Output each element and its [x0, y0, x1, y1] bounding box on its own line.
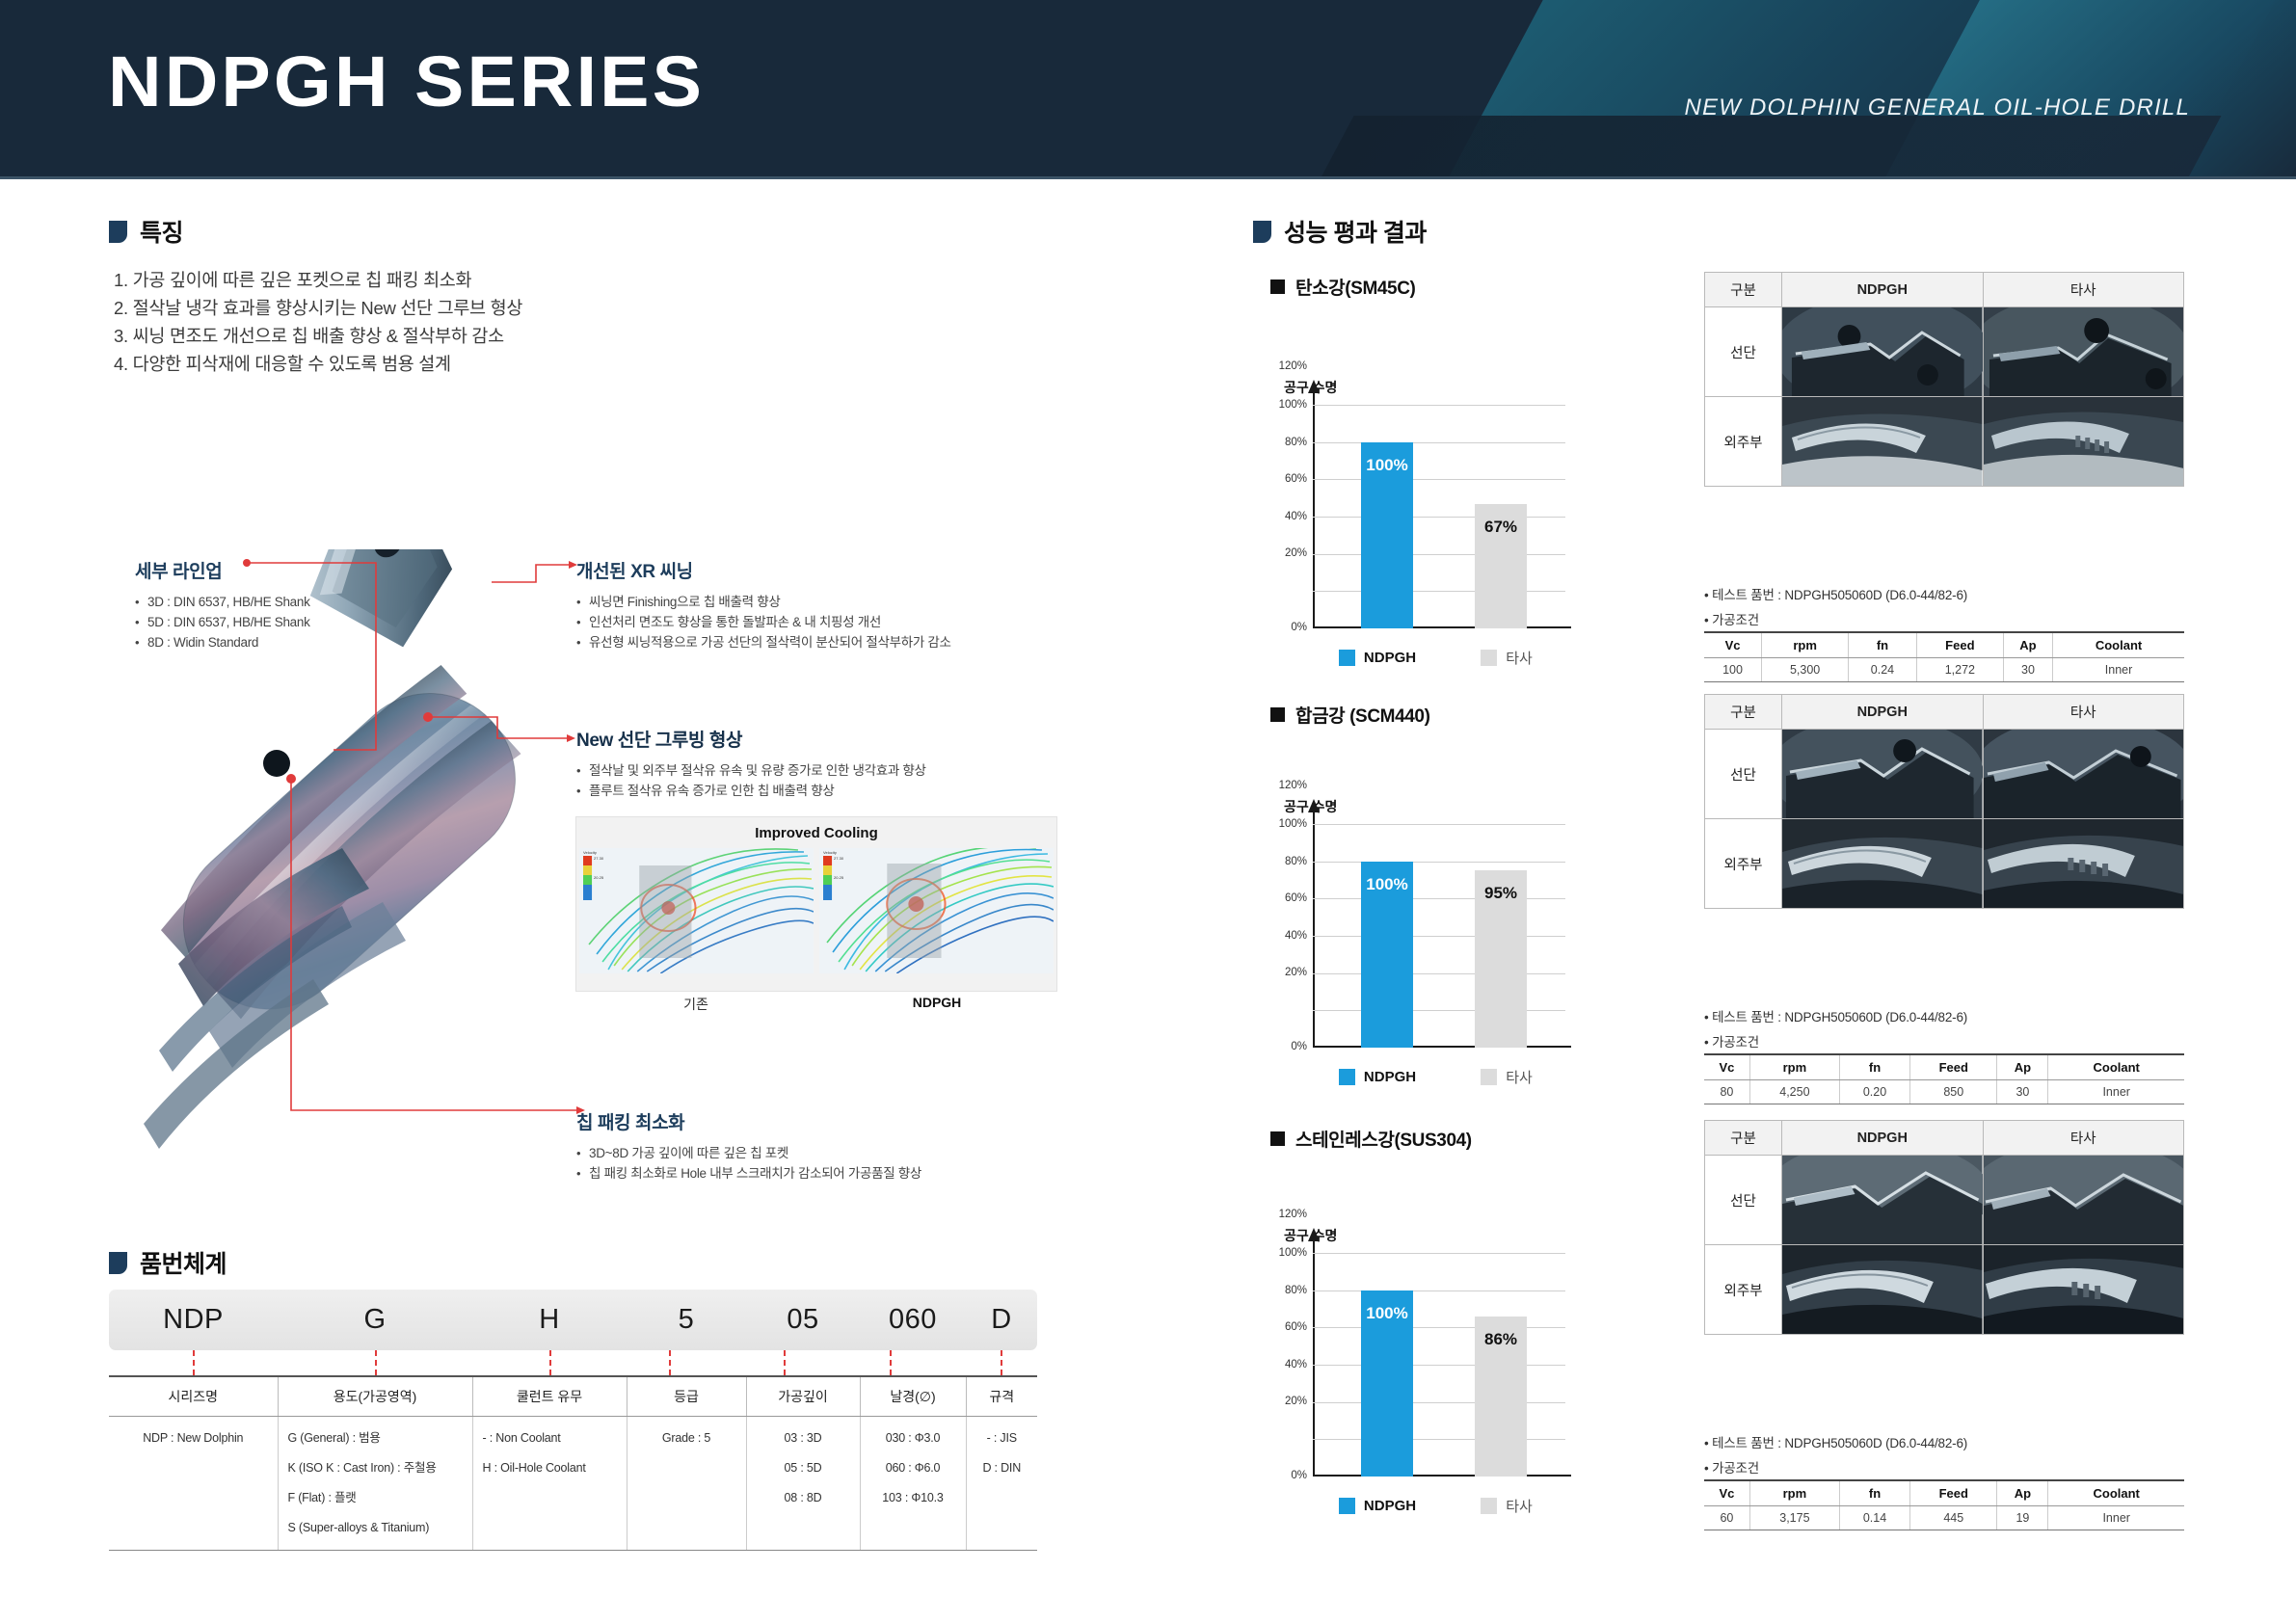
y-tick-label: 40% — [1257, 930, 1307, 942]
legend-label: NDPGH — [1364, 1069, 1416, 1085]
pn-tick — [669, 1350, 671, 1375]
table-cell-depth: 03 : 3D 05 : 5D 08 : 8D — [746, 1417, 860, 1551]
list-item: 칩 패킹 최소화로 Hole 내부 스크래치가 감소되어 가공품질 향상 — [576, 1163, 1058, 1184]
cell-line: F (Flat) : 플랫 — [288, 1483, 463, 1513]
callout-new-grooving: New 선단 그루빙 형상 절삭날 및 외주부 절삭유 유속 및 유량 증가로 … — [576, 726, 1029, 801]
column-header: rpm — [1762, 632, 1849, 658]
x-axis — [1313, 1046, 1571, 1048]
bar-ndpgh: 100% — [1361, 862, 1413, 1048]
grid-line — [1313, 1010, 1565, 1011]
cell-line: D : DIN — [976, 1453, 1028, 1483]
pn-tick — [784, 1350, 786, 1375]
page-title: NDPGH SERIES — [108, 40, 705, 122]
chart-legend: NDPGH 타사 — [1313, 648, 1571, 668]
pn-tick — [890, 1350, 892, 1375]
svg-text:Velocity: Velocity — [823, 850, 837, 855]
row-label: 외주부 — [1705, 819, 1782, 909]
y-tick-label: 60% — [1257, 1321, 1307, 1333]
pn-tick — [1001, 1350, 1002, 1375]
y-tick-label: 40% — [1257, 1359, 1307, 1370]
table-cell: 0.14 — [1839, 1506, 1909, 1530]
table-row: 외주부 — [1705, 397, 2184, 487]
x-axis — [1313, 626, 1571, 628]
pn-tick — [193, 1350, 195, 1375]
callout-title: 칩 패킹 최소화 — [576, 1108, 1058, 1134]
column-header: 날경(∅) — [860, 1376, 966, 1417]
y-tick-label: 80% — [1257, 437, 1307, 448]
flag-icon — [109, 1252, 127, 1274]
cooling-caption-ndpgh: NDPGH — [816, 995, 1057, 1014]
y-tick-label: 100% — [1257, 818, 1307, 830]
cell-line: S (Super-alloys & Titanium) — [288, 1513, 463, 1543]
condition-note-sm45c: • 가공조건 — [1704, 609, 1759, 628]
margin-photo — [1782, 1245, 1983, 1334]
column-header: Ap — [2003, 632, 2052, 658]
callout-title: 개선된 XR 씨닝 — [576, 557, 1029, 583]
grid-line — [1313, 936, 1565, 937]
features-heading-label: 특징 — [140, 214, 183, 249]
grid-line — [1313, 1402, 1565, 1403]
y-axis-arrow-icon — [1308, 380, 1320, 393]
table-cell: 80 — [1704, 1080, 1749, 1104]
column-header: 타사 — [1983, 273, 2184, 307]
photo-cell-ndpgh-margin — [1782, 1245, 1984, 1335]
test-part-note-scm440: • 테스트 품번 : NDPGH505060D (D6.0-44/82-6) — [1704, 1006, 1967, 1025]
header-accent-shape-c — [1271, 116, 2221, 178]
legend-swatch-icon — [1339, 650, 1355, 666]
table-row: 60 3,175 0.14 445 19 Inner — [1704, 1506, 2184, 1530]
margin-photo — [1782, 397, 1983, 486]
cfd-image-ndpgh: Velocity 27.30 20.25 — [819, 848, 1054, 973]
table-cell: Inner — [2048, 1080, 2184, 1104]
part-number-heading-label: 품번체계 — [140, 1245, 227, 1280]
material-heading-scm440: 합금강 (SCM440) — [1270, 702, 1430, 728]
y-tick-label: 0% — [1257, 1041, 1307, 1052]
table-header-row: 구분 NDPGH 타사 — [1705, 695, 2184, 730]
cooling-caption-conventional: 기존 — [575, 995, 816, 1014]
legend-label: 타사 — [1506, 648, 1533, 668]
y-tick-label: 80% — [1257, 856, 1307, 867]
column-header: 규격 — [966, 1376, 1037, 1417]
table-row: 100 5,300 0.24 1,272 30 Inner — [1704, 658, 2184, 682]
bar-value-label: 100% — [1361, 1304, 1413, 1323]
photo-cell-ndpgh-margin — [1782, 397, 1984, 487]
cooling-captions: 기존 NDPGH — [575, 995, 1057, 1014]
bar-ndpgh: 100% — [1361, 442, 1413, 628]
column-header: 구분 — [1705, 1121, 1782, 1156]
bar-competitor: 95% — [1475, 870, 1527, 1048]
bar-competitor: 67% — [1475, 504, 1527, 629]
bar-value-label: 100% — [1361, 456, 1413, 475]
column-header: fn — [1849, 632, 1917, 658]
list-item: 3. 씨닝 면조도 개선으로 칩 배출 향상 & 절삭부하 감소 — [114, 322, 522, 350]
y-tick-label: 100% — [1257, 1247, 1307, 1259]
photo-cell-competitor-margin — [1983, 819, 2184, 909]
cell-line: 030 : Φ3.0 — [870, 1423, 956, 1453]
column-header: 타사 — [1983, 695, 2184, 730]
page-header: NDPGH SERIES NEW DOLPHIN GENERAL OIL-HOL… — [0, 0, 2296, 178]
header-divider — [0, 176, 2296, 179]
grid-line — [1313, 479, 1565, 480]
pn-segment: 5 — [627, 1304, 746, 1336]
condition-note-scm440: • 가공조건 — [1704, 1031, 1759, 1051]
table-cell: 30 — [1997, 1080, 2048, 1104]
photo-cell-competitor-tip — [1983, 1156, 2184, 1245]
callout-bullets: 절삭날 및 외주부 절삭유 유속 및 유량 증가로 인한 냉각효과 향상 플루트… — [576, 760, 1029, 801]
bar-value-label: 95% — [1475, 884, 1527, 903]
list-item: 1. 가공 깊이에 따른 깊은 포켓으로 칩 패킹 최소화 — [114, 266, 522, 294]
material-label: 합금강 (SCM440) — [1295, 702, 1430, 728]
photo-cell-ndpgh-tip — [1782, 307, 1984, 397]
chart-legend: NDPGH 타사 — [1313, 1496, 1571, 1516]
callout-bullets: 3D~8D 가공 깊이에 따른 깊은 칩 포켓 칩 패킹 최소화로 Hole 내… — [576, 1143, 1058, 1184]
column-header: NDPGH — [1782, 273, 1984, 307]
y-axis — [1313, 391, 1315, 628]
callout-xr-thinning: 개선된 XR 씨닝 씨닝면 Finishing으로 칩 배출력 향상 인선처리 … — [576, 557, 1029, 652]
pn-segment: 05 — [746, 1304, 860, 1336]
y-axis-arrow-icon — [1308, 1228, 1320, 1241]
svg-text:20.25: 20.25 — [594, 875, 604, 880]
condition-table-scm440: Vc rpm fn Feed Ap Coolant 80 4,250 0.20 … — [1704, 1053, 2184, 1104]
chart-plot-area: 120% 100% 80% 60% 40% 20% 0% 100% 86% — [1313, 1253, 1565, 1477]
column-header: Vc — [1704, 1480, 1749, 1506]
table-cell: 30 — [2003, 658, 2052, 682]
bar-value-label: 67% — [1475, 518, 1527, 537]
cell-line: K (ISO K : Cast Iron) : 주철용 — [288, 1453, 463, 1483]
test-part-note-sus304: • 테스트 품번 : NDPGH505060D (D6.0-44/82-6) — [1704, 1432, 1967, 1451]
grid-line — [1313, 442, 1565, 443]
bar-competitor: 86% — [1475, 1317, 1527, 1477]
grid-line — [1313, 862, 1565, 863]
column-header: NDPGH — [1782, 1121, 1984, 1156]
chart-tool-life-scm440: 공구 수명 120% 100% 80% 60% 40% 20% 0% 100% … — [1253, 824, 1581, 1113]
photo-cell-ndpgh-margin — [1782, 819, 1984, 909]
table-cell: 445 — [1910, 1506, 1997, 1530]
row-label: 선단 — [1705, 307, 1782, 397]
callout-title: New 선단 그루빙 형상 — [576, 726, 1029, 752]
y-tick-label: 40% — [1257, 511, 1307, 522]
row-label: 외주부 — [1705, 1245, 1782, 1335]
y-tick-label: 60% — [1257, 473, 1307, 485]
chart-tool-life-sm45c: 공구 수명 120% 100% 80% 60% 40% 20% 0% 100% … — [1253, 405, 1581, 694]
table-cell: 60 — [1704, 1506, 1749, 1530]
cell-line: NDP : New Dolphin — [119, 1423, 268, 1453]
column-header: 구분 — [1705, 273, 1782, 307]
flag-icon — [1253, 221, 1271, 243]
list-item: 씨닝면 Finishing으로 칩 배출력 향상 — [576, 592, 1029, 612]
square-bullet-icon — [1270, 279, 1285, 294]
margin-photo — [1782, 819, 1983, 908]
table-cell: Inner — [2053, 658, 2184, 682]
table-row: 80 4,250 0.20 850 30 Inner — [1704, 1080, 2184, 1104]
column-header: Coolant — [2048, 1480, 2184, 1506]
cell-line: H : Oil-Hole Coolant — [483, 1453, 617, 1483]
cell-line: - : JIS — [976, 1423, 1028, 1453]
grid-line — [1313, 405, 1565, 406]
svg-text:20.25: 20.25 — [834, 875, 844, 880]
table-header-row: 시리즈명 용도(가공영역) 쿨런트 유무 등급 가공깊이 날경(∅) 규격 — [109, 1376, 1037, 1417]
cell-line: 08 : 8D — [757, 1483, 850, 1513]
list-item: 절삭날 및 외주부 절삭유 유속 및 유량 증가로 인한 냉각효과 향상 — [576, 760, 1029, 781]
callout-title: 세부 라인업 — [135, 557, 424, 583]
condition-table-sm45c: Vc rpm fn Feed Ap Coolant 100 5,300 0.24… — [1704, 631, 2184, 682]
photo-cell-competitor-margin — [1983, 1245, 2184, 1335]
column-header: 시리즈명 — [109, 1376, 278, 1417]
grid-line — [1313, 898, 1565, 899]
photo-cell-competitor-tip — [1983, 730, 2184, 819]
list-item: 4. 다양한 피삭재에 대응할 수 있도록 범용 설계 — [114, 350, 522, 378]
y-axis-arrow-icon — [1308, 799, 1320, 812]
page-subtitle: NEW DOLPHIN GENERAL OIL-HOLE DRILL — [1685, 94, 2190, 121]
table-row: 외주부 — [1705, 1245, 2184, 1335]
margin-photo — [1984, 819, 2184, 908]
legend-swatch-icon — [1481, 1498, 1497, 1514]
margin-photo — [1984, 397, 2184, 486]
bar-value-label: 86% — [1475, 1330, 1527, 1349]
square-bullet-icon — [1270, 707, 1285, 722]
table-cell: 0.24 — [1849, 658, 1917, 682]
x-axis — [1313, 1475, 1571, 1477]
table-cell-usage: G (General) : 범용 K (ISO K : Cast Iron) :… — [278, 1417, 472, 1551]
cell-line: 05 : 5D — [757, 1453, 850, 1483]
material-heading-sm45c: 탄소강(SM45C) — [1270, 274, 1415, 300]
callout-bullets: 씨닝면 Finishing으로 칩 배출력 향상 인선처리 면조도 향상을 통한… — [576, 592, 1029, 652]
table-cell-grade: Grade : 5 — [627, 1417, 746, 1551]
column-header: Ap — [1997, 1054, 2048, 1080]
column-header: Vc — [1704, 1054, 1749, 1080]
table-row: 선단 — [1705, 1156, 2184, 1245]
table-cell-coolant: - : Non Coolant H : Oil-Hole Coolant — [472, 1417, 627, 1551]
grid-line — [1313, 517, 1565, 518]
table-cell: 3,175 — [1749, 1506, 1839, 1530]
coolant-hole — [263, 750, 290, 777]
list-item: 2. 절삭날 냉각 효과를 향상시키는 New 선단 그루브 형상 — [114, 294, 522, 322]
comparison-table-scm440: 구분 NDPGH 타사 선단 — [1704, 694, 2184, 909]
table-header-row: Vc rpm fn Feed Ap Coolant — [1704, 1054, 2184, 1080]
list-item: 인선처리 면조도 향상을 통한 돌발파손 & 내 치핑성 개선 — [576, 612, 1029, 632]
column-header: Coolant — [2048, 1054, 2184, 1080]
legend-swatch-icon — [1339, 1069, 1355, 1085]
y-axis — [1313, 1239, 1315, 1477]
y-tick-label: 0% — [1257, 1470, 1307, 1481]
table-row: 선단 — [1705, 307, 2184, 397]
svg-text:27.30: 27.30 — [594, 856, 604, 861]
performance-heading: 성능 평과 결과 — [1253, 214, 1427, 249]
cooling-panel-title: Improved Cooling — [576, 817, 1056, 848]
row-label: 외주부 — [1705, 397, 1782, 487]
table-cell: 1,272 — [1916, 658, 2003, 682]
tip-photo — [1782, 1156, 1983, 1244]
pn-segment: D — [966, 1304, 1037, 1336]
table-header-row: 구분 NDPGH 타사 — [1705, 273, 2184, 307]
material-heading-sus304: 스테인레스강(SUS304) — [1270, 1126, 1472, 1152]
column-header: 구분 — [1705, 695, 1782, 730]
callout-chip-packing: 칩 패킹 최소화 3D~8D 가공 깊이에 따른 깊은 칩 포켓 칩 패킹 최소… — [576, 1108, 1058, 1184]
column-header: Feed — [1916, 632, 2003, 658]
performance-heading-label: 성능 평과 결과 — [1284, 214, 1427, 249]
table-cell: 0.20 — [1839, 1080, 1909, 1104]
features-list: 1. 가공 깊이에 따른 깊은 포켓으로 칩 패킹 최소화 2. 절삭날 냉각 … — [114, 266, 522, 378]
column-header: 쿨런트 유무 — [472, 1376, 627, 1417]
row-label: 선단 — [1705, 1156, 1782, 1245]
catalog-page: NDPGH SERIES NEW DOLPHIN GENERAL OIL-HOL… — [0, 0, 2296, 1623]
pn-segment: H — [472, 1304, 627, 1336]
chart-tool-life-sus304: 공구 수명 120% 100% 80% 60% 40% 20% 0% 100% … — [1253, 1253, 1581, 1542]
legend-item-competitor: 타사 — [1442, 1067, 1571, 1087]
column-header: 등급 — [627, 1376, 746, 1417]
column-header: 타사 — [1983, 1121, 2184, 1156]
legend-item-ndpgh: NDPGH — [1313, 1496, 1442, 1516]
legend-swatch-icon — [1481, 1069, 1497, 1085]
material-label: 탄소강(SM45C) — [1295, 274, 1415, 300]
legend-item-competitor: 타사 — [1442, 648, 1571, 668]
column-header: fn — [1839, 1480, 1909, 1506]
grid-line — [1313, 1327, 1565, 1328]
table-cell: Inner — [2048, 1506, 2184, 1530]
cell-line: - : Non Coolant — [483, 1423, 617, 1453]
column-header: rpm — [1749, 1480, 1839, 1506]
column-header: Vc — [1704, 632, 1762, 658]
features-heading: 특징 — [109, 214, 183, 249]
photo-cell-competitor-tip — [1983, 307, 2184, 397]
legend-label: NDPGH — [1364, 650, 1416, 666]
pn-segment: 060 — [860, 1304, 966, 1336]
table-cell-diameter: 030 : Φ3.0 060 : Φ6.0 103 : Φ10.3 — [860, 1417, 966, 1551]
table-cell: 100 — [1704, 658, 1762, 682]
column-header: NDPGH — [1782, 695, 1984, 730]
chart-legend: NDPGH 타사 — [1313, 1067, 1571, 1087]
column-header: Feed — [1910, 1054, 1997, 1080]
y-axis — [1313, 811, 1315, 1048]
table-cell-series: NDP : New Dolphin — [109, 1417, 278, 1551]
cooling-images: Velocity 27.30 20.25 — [576, 848, 1056, 973]
table-row: 외주부 — [1705, 819, 2184, 909]
tip-photo — [1782, 307, 1983, 396]
legend-item-ndpgh: NDPGH — [1313, 648, 1442, 668]
y-tick-label: 20% — [1257, 1396, 1307, 1407]
comparison-table-sm45c: 구분 NDPGH 타사 선단 — [1704, 272, 2184, 487]
callout-lineup: 세부 라인업 3D : DIN 6537, HB/HE Shank 5D : D… — [135, 557, 424, 652]
cfd-image-conventional: Velocity 27.30 20.25 — [579, 848, 814, 973]
part-number-bar: NDP G H 5 05 060 D — [109, 1290, 1037, 1350]
column-header: 용도(가공영역) — [278, 1376, 472, 1417]
condition-note-sus304: • 가공조건 — [1704, 1457, 1759, 1477]
list-item: 8D : Widin Standard — [135, 632, 424, 652]
cell-line: 03 : 3D — [757, 1423, 850, 1453]
column-header: Feed — [1910, 1480, 1997, 1506]
chart-plot-area: 120% 100% 80% 60% 40% 20% 0% 100% 67% — [1313, 405, 1565, 628]
bar-value-label: 100% — [1361, 875, 1413, 894]
tip-photo — [1984, 730, 2184, 818]
row-label: 선단 — [1705, 730, 1782, 819]
list-item: 3D~8D 가공 깊이에 따른 깊은 칩 포켓 — [576, 1143, 1058, 1163]
legend-swatch-icon — [1339, 1498, 1355, 1514]
square-bullet-icon — [1270, 1131, 1285, 1146]
y-tick-label: 60% — [1257, 892, 1307, 904]
y-tick-label: 120% — [1257, 360, 1307, 372]
legend-label: NDPGH — [1364, 1498, 1416, 1514]
test-part-note-sm45c: • 테스트 품번 : NDPGH505060D (D6.0-44/82-6) — [1704, 584, 1967, 603]
table-header-row: Vc rpm fn Feed Ap Coolant — [1704, 632, 2184, 658]
table-row: 선단 — [1705, 730, 2184, 819]
table-cell: 5,300 — [1762, 658, 1849, 682]
column-header: 가공깊이 — [746, 1376, 860, 1417]
pn-segment: NDP — [109, 1304, 278, 1336]
legend-swatch-icon — [1481, 650, 1497, 666]
grid-line — [1313, 1439, 1565, 1440]
list-item: 3D : DIN 6537, HB/HE Shank — [135, 592, 424, 612]
table-row: NDP : New Dolphin G (General) : 범용 K (IS… — [109, 1417, 1037, 1551]
legend-item-competitor: 타사 — [1442, 1496, 1571, 1516]
svg-text:27.30: 27.30 — [834, 856, 844, 861]
table-cell: 19 — [1997, 1506, 2048, 1530]
y-tick-label: 20% — [1257, 547, 1307, 559]
y-tick-label: 0% — [1257, 622, 1307, 633]
y-tick-label: 120% — [1257, 780, 1307, 791]
chart-plot-area: 120% 100% 80% 60% 40% 20% 0% 100% 95% — [1313, 824, 1565, 1048]
cell-line: 103 : Φ10.3 — [870, 1483, 956, 1513]
column-header: rpm — [1749, 1054, 1839, 1080]
grid-line — [1313, 973, 1565, 974]
part-number-heading: 품번체계 — [109, 1245, 227, 1280]
grid-line — [1313, 824, 1565, 825]
y-tick-label: 100% — [1257, 399, 1307, 411]
table-header-row: Vc rpm fn Feed Ap Coolant — [1704, 1480, 2184, 1506]
pn-tick — [375, 1350, 377, 1375]
material-label: 스테인레스강(SUS304) — [1295, 1126, 1472, 1152]
photo-cell-competitor-margin — [1983, 397, 2184, 487]
flag-icon — [109, 221, 127, 243]
column-header: fn — [1839, 1054, 1909, 1080]
grid-line — [1313, 1290, 1565, 1291]
y-tick-label: 80% — [1257, 1285, 1307, 1296]
grid-line — [1313, 591, 1565, 592]
pn-segment: G — [278, 1304, 472, 1336]
legend-label: 타사 — [1506, 1496, 1533, 1516]
list-item: 유선형 씨닝적용으로 가공 선단의 절삭력이 분산되어 절삭부하가 감소 — [576, 632, 1029, 652]
part-number-tick-lines — [109, 1350, 1037, 1375]
list-item: 5D : DIN 6537, HB/HE Shank — [135, 612, 424, 632]
table-cell: 850 — [1910, 1080, 1997, 1104]
grid-line — [1313, 1365, 1565, 1366]
legend-item-ndpgh: NDPGH — [1313, 1067, 1442, 1087]
svg-text:Velocity: Velocity — [583, 850, 597, 855]
y-tick-label: 20% — [1257, 967, 1307, 978]
comparison-table-sus304: 구분 NDPGH 타사 선단 — [1704, 1120, 2184, 1335]
condition-table-sus304: Vc rpm fn Feed Ap Coolant 60 3,175 0.14 … — [1704, 1479, 2184, 1530]
callout-bullets: 3D : DIN 6537, HB/HE Shank 5D : DIN 6537… — [135, 592, 424, 652]
grid-line — [1313, 1253, 1565, 1254]
pn-tick — [549, 1350, 551, 1375]
table-header-row: 구분 NDPGH 타사 — [1705, 1121, 2184, 1156]
y-tick-label: 120% — [1257, 1209, 1307, 1220]
cell-line: G (General) : 범용 — [288, 1423, 463, 1453]
cell-line: 060 : Φ6.0 — [870, 1453, 956, 1483]
grid-line — [1313, 554, 1565, 555]
table-cell: 4,250 — [1749, 1080, 1839, 1104]
tip-photo — [1984, 307, 2184, 396]
tip-photo — [1782, 730, 1983, 818]
photo-cell-ndpgh-tip — [1782, 1156, 1984, 1245]
list-item: 플루트 절삭유 유속 증가로 인한 칩 배출력 향상 — [576, 781, 1029, 801]
table-cell-standard: - : JIS D : DIN — [966, 1417, 1037, 1551]
column-header: Coolant — [2053, 632, 2184, 658]
cell-line: Grade : 5 — [637, 1423, 736, 1453]
legend-label: 타사 — [1506, 1067, 1533, 1087]
column-header: Ap — [1997, 1480, 2048, 1506]
tip-photo — [1984, 1156, 2184, 1244]
bar-ndpgh: 100% — [1361, 1290, 1413, 1477]
